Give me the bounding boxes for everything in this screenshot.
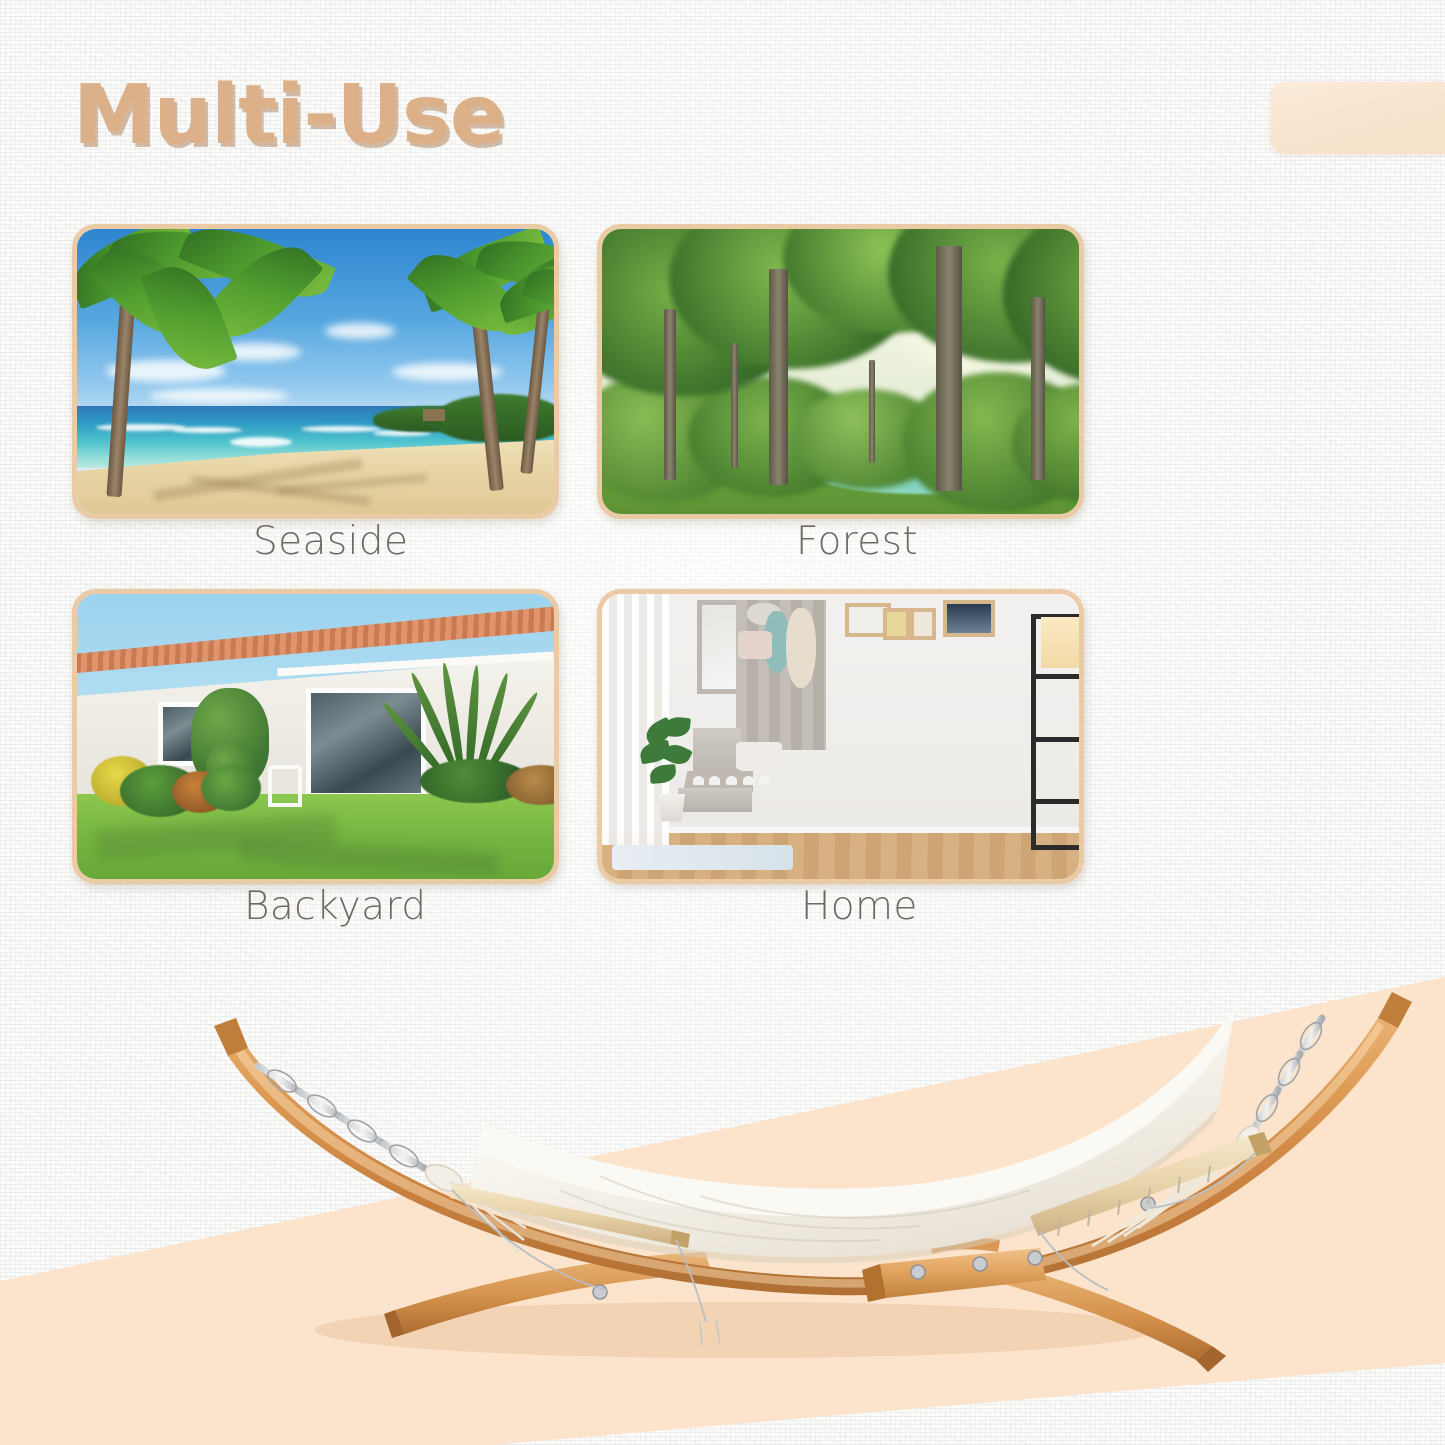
brand-badge <box>1270 82 1445 154</box>
product-hero <box>0 860 1445 1445</box>
scenario-card-forest[interactable] <box>597 224 1084 519</box>
scenario-card-backyard[interactable] <box>72 589 559 884</box>
forest-photo <box>602 229 1079 514</box>
scenario-caption-seaside: Seaside <box>253 519 408 564</box>
scenario-card-seaside[interactable] <box>72 224 559 519</box>
home-photo <box>602 594 1079 879</box>
backyard-photo <box>77 594 554 879</box>
scenario-card-home[interactable] <box>597 589 1084 884</box>
seaside-photo <box>77 229 554 514</box>
hammock-illustration <box>0 860 1445 1445</box>
scenario-caption-forest: Forest <box>796 519 918 564</box>
infographic-page: Multi-Use <box>0 0 1445 1445</box>
page-title: Multi-Use <box>73 68 504 163</box>
